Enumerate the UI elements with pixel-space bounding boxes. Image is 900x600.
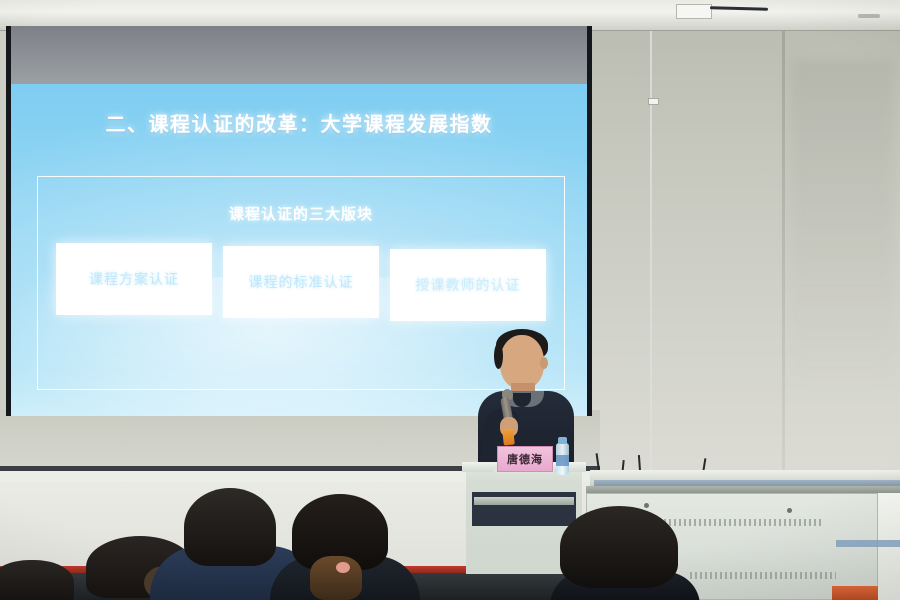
equipment-orange-box [832,586,878,600]
slide-subtitle: 课程认证的三大版块 [38,203,564,224]
screen-unlit-area [11,26,587,84]
av-label-strip-3 [836,540,900,547]
slide-topic-row: 课程方案认证 课程的标准认证 授课教师的认证 [56,243,546,315]
lecture-hall-photo: 二、课程认证的改革：大学课程发展指数 课程认证的三大版块 课程方案认证 课程的标… [0,0,900,600]
cabinet-vent-row-2 [690,572,836,579]
wall-seam-left [650,20,652,490]
audience-member-4 [560,506,710,600]
water-bottle-label [556,455,569,466]
audience-head-5 [0,560,74,600]
topic-box-3: 授课教师的认证 [390,249,546,321]
housing-cable [710,6,768,11]
audience-head-4 [560,506,678,588]
av-table-edge [586,486,900,493]
housing-bracket [858,14,880,18]
topic-box-1-label: 课程方案认证 [89,269,179,289]
audience-head-2 [184,488,276,566]
cabinet-screw-2 [787,508,792,513]
wall-fixture-icon [648,98,659,105]
podium-shelf-rail [474,497,574,505]
wall-seam-right [782,20,785,490]
topic-box-2: 课程的标准认证 [223,246,379,318]
topic-box-3-label: 授课教师的认证 [416,275,521,295]
wall-shading [790,60,895,390]
topic-box-1: 课程方案认证 [56,243,212,315]
speaker-nameplate: 唐德海 [497,446,553,472]
topic-box-2-label: 课程的标准认证 [249,272,354,292]
housing-control-box-icon [676,4,712,19]
slide-title: 二、课程认证的改革：大学课程发展指数 [11,108,587,137]
audience-member-5 [0,560,80,600]
presenter-head [500,335,544,389]
audience-ponytail [310,556,362,600]
presenter-ear [540,357,548,369]
audience-hair-clip [336,562,350,573]
speaker-name: 唐德海 [507,451,543,467]
presenter-hair-side [494,343,503,369]
audience-member-3 [270,494,420,600]
microphone-accent-band [502,428,515,445]
water-bottle-cap [558,437,567,444]
